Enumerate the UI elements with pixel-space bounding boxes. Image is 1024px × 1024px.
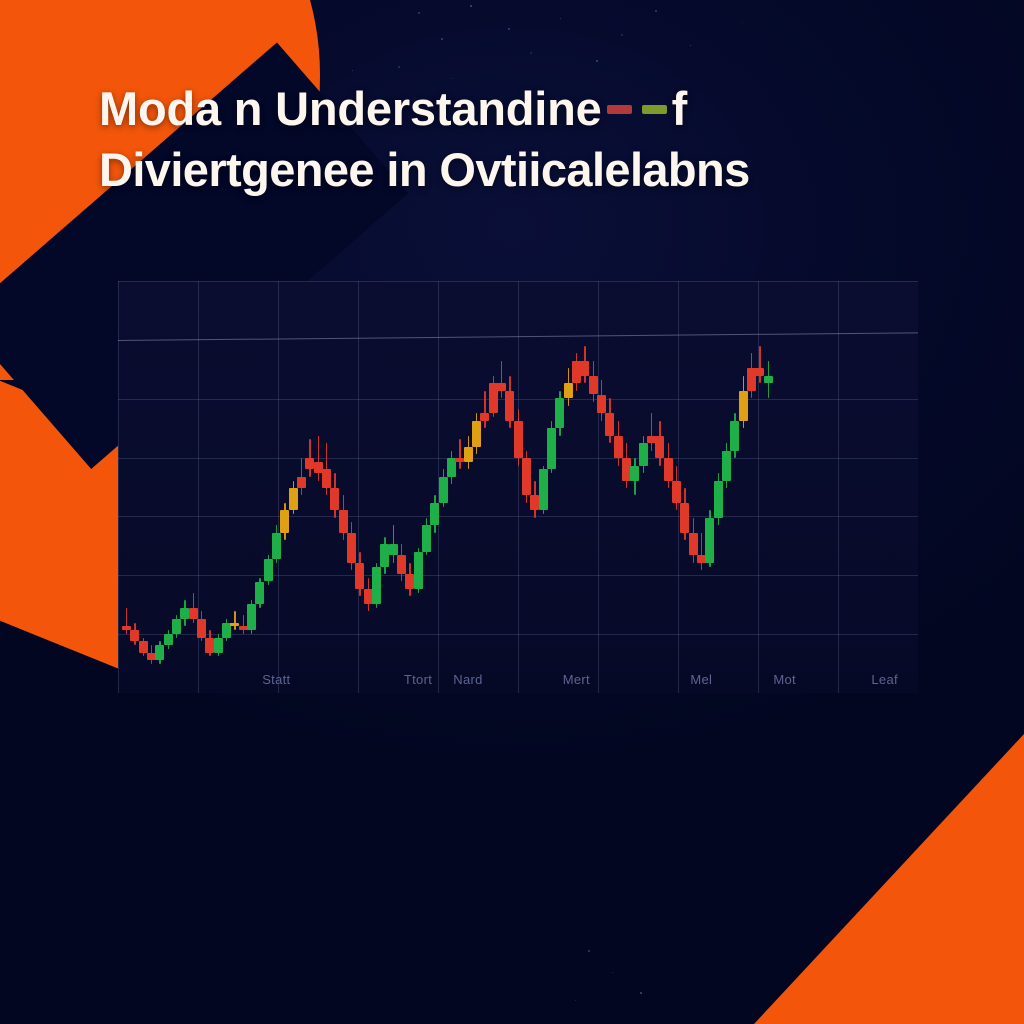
candle-body [639,443,648,465]
candle-body [505,391,514,421]
candle-body [230,623,239,627]
candle-body [555,398,564,428]
candle-body [614,436,623,458]
candle-body [705,518,714,563]
x-axis-tick-label: Ttort [404,672,432,687]
candle-body [455,458,464,462]
candle-wick [234,611,236,630]
candle-body [180,608,189,619]
green-dash-icon [642,105,667,114]
title-line-1-text: Moda n Understandine [99,82,602,135]
candle-body [714,481,723,518]
candle-wick [318,436,320,481]
candle-body [672,481,681,503]
candle-body [422,525,431,551]
candle-body [197,619,206,638]
candle-body [547,428,556,469]
candle-body [597,395,606,414]
candle-body [339,510,348,532]
candle-body [355,563,364,589]
speck [352,70,353,71]
candle-wick [243,615,245,634]
speck [470,5,472,7]
candle-body [372,567,381,604]
speck [588,950,590,952]
candle-body [405,574,414,589]
candle-body [739,391,748,421]
candle-body [264,559,273,581]
red-dash-icon [607,105,632,114]
title-line-1-suffix: f [672,82,687,135]
candle-body [247,604,256,630]
speck [640,992,642,994]
candle-body [330,488,339,510]
candle-body [289,488,298,510]
candle-body [755,368,764,375]
candle-body [214,638,223,653]
chart-x-axis: StattTtortNardMertMelMotLeaf [118,672,918,694]
speck [621,34,623,36]
candle-body [564,383,573,398]
candle-wick [501,361,503,398]
candle-body [764,376,773,383]
candle-wick [651,413,653,450]
candle-body [164,634,173,645]
candle-body [297,477,306,488]
candle-body [522,458,531,495]
candle-body [255,582,264,604]
speck [690,45,691,46]
candle-body [589,376,598,395]
speck [575,1000,576,1001]
candle-body [472,421,481,447]
x-axis-tick-label: Mot [773,672,796,687]
candle-wick [701,533,703,570]
x-axis-tick-label: Nard [453,672,482,687]
candle-wick [484,391,486,428]
candle-body [722,451,731,481]
candle-wick [459,439,461,469]
candlestick-chart [118,281,918,693]
candle-body [689,533,698,555]
candle-body [205,638,214,653]
speck [508,28,510,30]
candle-body [439,477,448,503]
speck [418,12,420,14]
speck [655,10,657,12]
title-line-2: Diviertgenee in Ovtiicalelabns [99,139,929,200]
candle-body [539,469,548,510]
candle-body [655,436,664,458]
poster-canvas: Moda n Understandinef Diviertgenee in Ov… [0,0,1024,1024]
x-axis-tick-label: Mert [563,672,590,687]
candle-body [305,458,314,469]
candle-body [347,533,356,563]
candle-body [630,466,639,481]
candle-body [172,619,181,634]
candle-body [130,630,139,641]
candle-body [389,544,398,555]
speck [398,66,400,68]
speck [596,60,598,62]
speck [441,38,443,40]
candle-body [189,608,198,619]
candle-body [464,447,473,462]
candle-body [139,641,148,652]
candle-body [730,421,739,451]
candle-body [480,413,489,420]
candle-body [322,469,331,488]
candle-body [155,645,164,660]
speck [612,972,613,973]
x-axis-tick-label: Statt [262,672,290,687]
candle-body [414,552,423,589]
x-axis-tick-label: Mel [690,672,712,687]
speck [560,18,561,19]
title-line-1: Moda n Understandinef [99,78,929,139]
candle-body [680,503,689,533]
candle-body [397,555,406,574]
candle-body [497,383,506,390]
candle-body [272,533,281,559]
x-axis-tick-label: Leaf [871,672,898,687]
speck [742,22,743,23]
candle-body [530,495,539,510]
candle-body [605,413,614,435]
candle-body [280,510,289,532]
candle-body [380,544,389,566]
poster-title: Moda n Understandinef Diviertgenee in Ov… [99,78,929,200]
speck [530,52,532,54]
candle-body [664,458,673,480]
candle-body [514,421,523,458]
candle-body [430,503,439,525]
candle-wick [759,346,761,383]
candle-series [118,281,918,693]
candle-body [580,361,589,376]
